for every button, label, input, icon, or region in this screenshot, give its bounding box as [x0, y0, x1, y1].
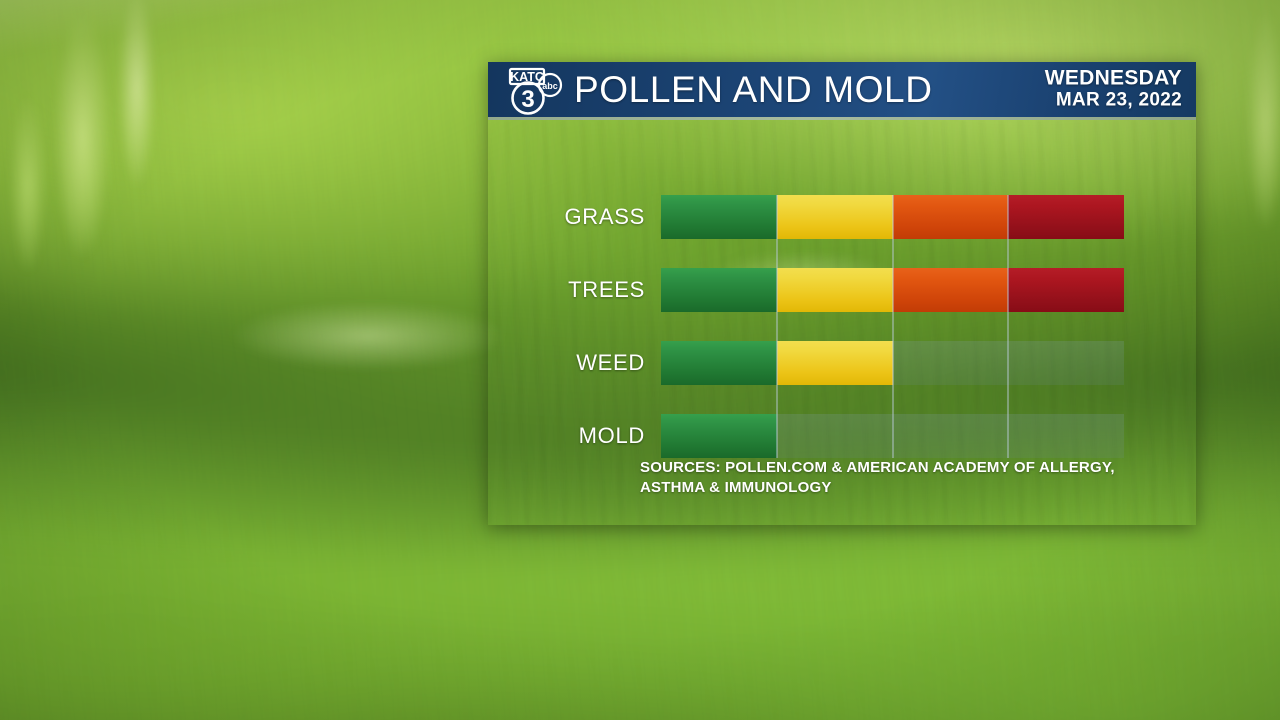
panel-header: KATC abc 3 POLLEN AND MOLD WEDNESDAY MAR… — [488, 62, 1196, 120]
level-segment-filled — [893, 268, 1009, 312]
weather-graphic: KATC abc 3 POLLEN AND MOLD WEDNESDAY MAR… — [0, 0, 1280, 720]
level-segment-filled — [777, 195, 893, 239]
level-segment-filled — [893, 195, 1009, 239]
level-segment-filled — [777, 268, 893, 312]
allergen-row-label: WEED — [488, 341, 645, 385]
pollen-mold-panel: KATC abc 3 POLLEN AND MOLD WEDNESDAY MAR… — [488, 62, 1196, 525]
sources-line-2: ASTHMA & IMMUNOLOGY — [640, 478, 1180, 498]
level-segment-empty — [893, 341, 1009, 385]
matrix-gridline — [1007, 195, 1009, 458]
forecast-date: WEDNESDAY MAR 23, 2022 — [1045, 68, 1182, 111]
level-segment-filled — [1008, 195, 1124, 239]
level-segment-filled — [661, 195, 777, 239]
matrix-gridline — [776, 195, 778, 458]
panel-title: POLLEN AND MOLD — [574, 69, 933, 111]
level-segment-filled — [661, 414, 777, 458]
sources-note: SOURCES: POLLEN.COM & AMERICAN ACADEMY O… — [640, 458, 1180, 498]
katc-3-abc-logo-icon: KATC abc 3 — [506, 66, 570, 118]
level-segment-empty — [777, 414, 893, 458]
allergen-row-label: MOLD — [488, 414, 645, 458]
level-segment-filled — [1008, 268, 1124, 312]
allergen-row: TREES — [488, 268, 1196, 312]
forecast-day-of-week: WEDNESDAY — [1045, 68, 1182, 91]
level-segment-empty — [1008, 414, 1124, 458]
level-segment-empty — [893, 414, 1009, 458]
allergen-row: MOLD — [488, 414, 1196, 458]
panel-body: LOW MODERATE HIGH GRASSTREESWEEDMOLD SOU… — [488, 120, 1196, 525]
allergen-row-label: GRASS — [488, 195, 645, 239]
svg-text:abc: abc — [542, 81, 558, 91]
allergen-row: GRASS — [488, 195, 1196, 239]
forecast-date-value: MAR 23, 2022 — [1045, 90, 1182, 111]
allergen-row: WEED — [488, 341, 1196, 385]
svg-text:3: 3 — [521, 86, 534, 113]
level-segment-filled — [777, 341, 893, 385]
level-segment-empty — [1008, 341, 1124, 385]
allergen-row-label: TREES — [488, 268, 645, 312]
sources-line-1: SOURCES: POLLEN.COM & AMERICAN ACADEMY O… — [640, 458, 1180, 478]
level-segment-filled — [661, 341, 777, 385]
level-segment-filled — [661, 268, 777, 312]
matrix-gridline — [892, 195, 894, 458]
